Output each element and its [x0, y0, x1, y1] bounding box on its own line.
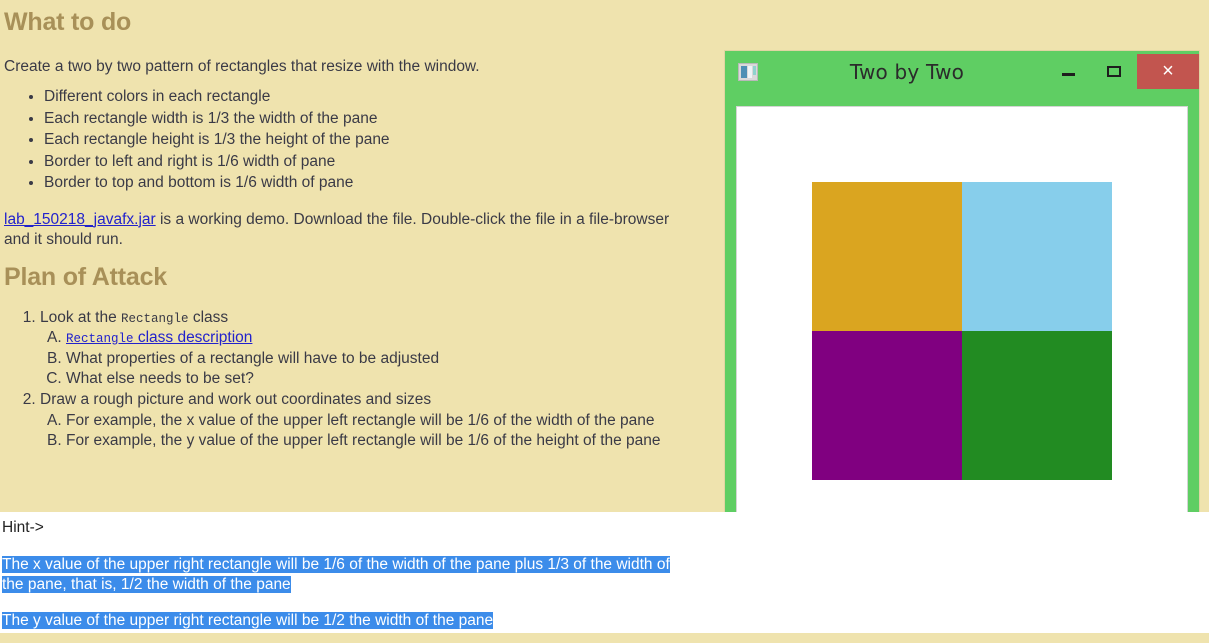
demo-paragraph: lab_150218_javafx.jar is a working demo.… [4, 210, 694, 251]
javafx-canvas [736, 106, 1188, 556]
plan-item-2: Draw a rough picture and work out coordi… [40, 390, 716, 451]
rectangle-class-name: Rectangle [121, 312, 189, 326]
list-item: Border to top and bottom is 1/6 width of… [44, 173, 716, 193]
requirements-list: Different colors in each rectangle Each … [4, 87, 716, 193]
rectangle-class-description-link[interactable]: Rectangle class description [66, 329, 252, 346]
minimize-glyph [1062, 73, 1075, 76]
rectangle-upper-right [962, 182, 1112, 331]
javafx-demo-window[interactable]: Two by Two × [725, 51, 1199, 568]
plan-sub-item: For example, the x value of the upper le… [66, 411, 706, 431]
plan-list: Look at the Rectangle class Rectangle cl… [4, 308, 716, 452]
hint-highlight-1: The x value of the upper right rectangle… [2, 556, 670, 593]
plan-sub-item: What properties of a rectangle will have… [66, 349, 716, 369]
lesson-page: What to do Create a two by two pattern o… [0, 0, 1209, 643]
window-controls: × [1045, 51, 1194, 92]
plan-sub-item: For example, the y value of the upper le… [66, 431, 706, 451]
intro-paragraph: Create a two by two pattern of rectangle… [4, 57, 716, 77]
plan-sub-item: What else needs to be set? [66, 369, 716, 389]
window-titlebar[interactable]: Two by Two × [725, 51, 1199, 92]
page-bottom-strip [0, 633, 1209, 643]
list-item: Border to left and right is 1/6 width of… [44, 152, 716, 172]
maximize-glyph [1107, 66, 1121, 77]
lesson-content: What to do Create a two by two pattern o… [0, 0, 724, 512]
plan-sub-item: Rectangle class description [66, 328, 716, 348]
plan-item-1-sublist: Rectangle class description What propert… [40, 328, 716, 389]
plan-item-1-text-before: Look at the [40, 309, 121, 326]
jar-download-link[interactable]: lab_150218_javafx.jar [4, 211, 156, 228]
rectangle-upper-left [812, 182, 962, 331]
plan-item-1: Look at the Rectangle class Rectangle cl… [40, 308, 716, 390]
plan-item-2-sublist: For example, the x value of the upper le… [40, 411, 716, 452]
minimize-icon[interactable] [1045, 51, 1091, 92]
app-icon-panel-left [741, 66, 747, 78]
maximize-icon[interactable] [1091, 51, 1137, 92]
plan-item-1-text-after: class [189, 309, 229, 326]
app-icon-panel-mid [748, 66, 752, 78]
hint-text-1: The x value of the upper right rectangle… [2, 555, 692, 595]
hint-panel: Hint-> The x value of the upper right re… [0, 512, 1209, 633]
hint-text-2: The y value of the upper right rectangle… [2, 611, 692, 631]
rectangle-lower-right [962, 331, 1112, 480]
heading-what-to-do: What to do [4, 0, 716, 39]
list-item: Each rectangle height is 1/3 the height … [44, 130, 716, 150]
close-icon[interactable]: × [1137, 54, 1199, 89]
rectangle-link-code: Rectangle [66, 332, 134, 346]
hint-highlight-2: The y value of the upper right rectangle… [2, 612, 493, 629]
hint-label: Hint-> [2, 519, 1209, 537]
rectangle-lower-left [812, 331, 962, 480]
app-icon-panel-right [753, 66, 756, 75]
plan-item-2-text: Draw a rough picture and work out coordi… [40, 391, 431, 408]
list-item: Different colors in each rectangle [44, 87, 716, 107]
window-app-icon [738, 63, 758, 81]
heading-plan-of-attack: Plan of Attack [4, 251, 716, 294]
rectangle-link-rest: class description [134, 329, 253, 346]
list-item: Each rectangle width is 1/3 the width of… [44, 109, 716, 129]
